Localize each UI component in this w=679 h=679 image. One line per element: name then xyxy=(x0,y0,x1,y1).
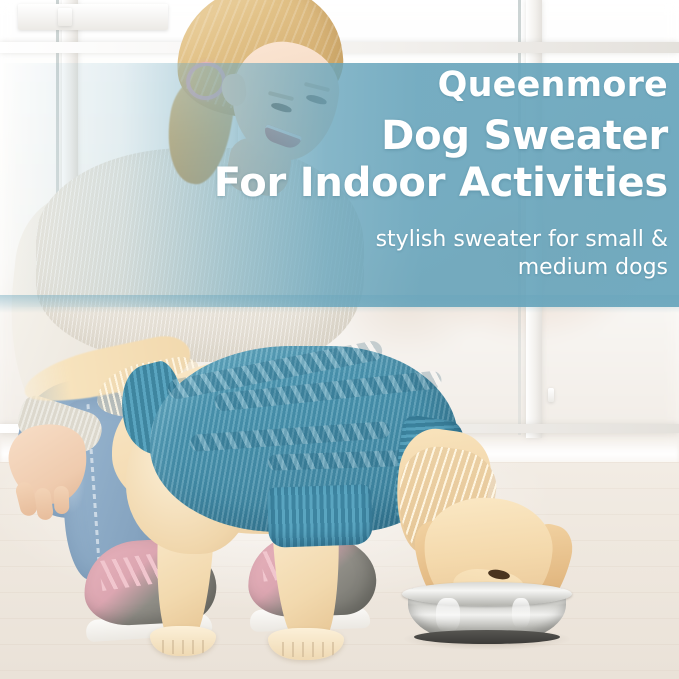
bowl-rim xyxy=(402,582,572,606)
subtitle-line-2: medium dogs xyxy=(28,254,668,283)
brand-name: Queenmore xyxy=(28,66,668,105)
bowl-highlight-right xyxy=(512,598,530,628)
product-subtitle: stylish sweater for small & medium dogs xyxy=(28,226,668,283)
headline-line-2: For Indoor Activities xyxy=(28,160,668,207)
subtitle-line-1: stylish sweater for small & xyxy=(376,227,668,252)
marketing-text-block: Queenmore Dog Sweater For Indoor Activit… xyxy=(28,66,668,283)
dog-paw-toes-hind xyxy=(154,640,212,654)
window-vent-panel xyxy=(18,4,168,30)
window-latch xyxy=(548,388,554,402)
dog-paw-toes-front xyxy=(274,642,340,657)
headline-line-1: Dog Sweater xyxy=(381,113,668,159)
product-image: Queenmore Dog Sweater For Indoor Activit… xyxy=(0,0,679,679)
bowl-highlight-left xyxy=(436,598,460,632)
text-overlay-fade xyxy=(0,295,679,313)
bowl-rubber-base xyxy=(414,630,560,644)
woman-finger-3 xyxy=(54,486,70,515)
window-vent-handle xyxy=(58,8,72,26)
product-headline: Dog Sweater For Indoor Activities xyxy=(28,113,668,207)
dog-sweater-ribbed-hem xyxy=(267,484,373,548)
